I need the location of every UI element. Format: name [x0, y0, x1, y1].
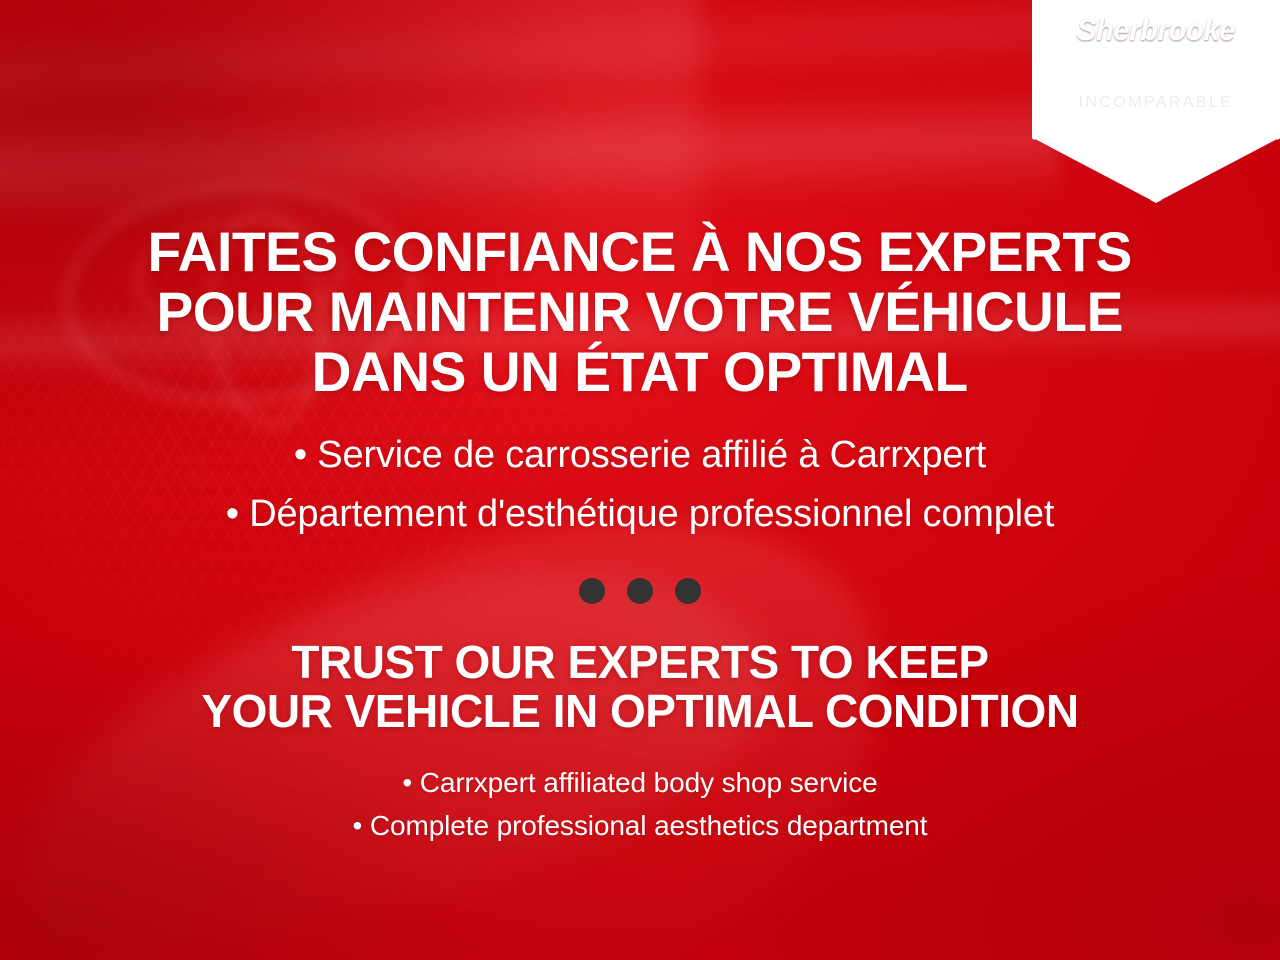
headline-english: TRUST OUR EXPERTS TO KEEP YOUR VEHICLE I…: [201, 638, 1078, 737]
list-item: • Carrxpert affiliated body shop service: [353, 761, 928, 804]
dot-divider: [579, 578, 701, 604]
list-item: • Département d'esthétique professionnel…: [226, 485, 1054, 544]
headline-french-line-2: POUR MAINTENIR VOTRE VÉHICULE: [148, 282, 1132, 342]
divider-dot: [675, 578, 701, 604]
promo-banner: Sherbrooke TOYOTA INCOMPARABLE Depuis pl…: [0, 0, 1280, 960]
bullet-list-english: • Carrxpert affiliated body shop service…: [353, 761, 928, 848]
headline-french-line-1: FAITES CONFIANCE À NOS EXPERTS: [148, 222, 1132, 282]
divider-dot: [627, 578, 653, 604]
bullet-list-french: • Service de carrosserie affilié à Carrx…: [226, 426, 1054, 544]
list-item: • Service de carrosserie affilié à Carrx…: [226, 426, 1054, 485]
headline-english-line-1: TRUST OUR EXPERTS TO KEEP: [201, 638, 1078, 688]
banner-content: FAITES CONFIANCE À NOS EXPERTS POUR MAIN…: [0, 0, 1280, 960]
headline-french: FAITES CONFIANCE À NOS EXPERTS POUR MAIN…: [148, 222, 1132, 402]
list-item: • Complete professional aesthetics depar…: [353, 804, 928, 847]
headline-french-line-3: DANS UN ÉTAT OPTIMAL: [148, 342, 1132, 402]
divider-dot: [579, 578, 605, 604]
headline-english-line-2: YOUR VEHICLE IN OPTIMAL CONDITION: [201, 687, 1078, 737]
